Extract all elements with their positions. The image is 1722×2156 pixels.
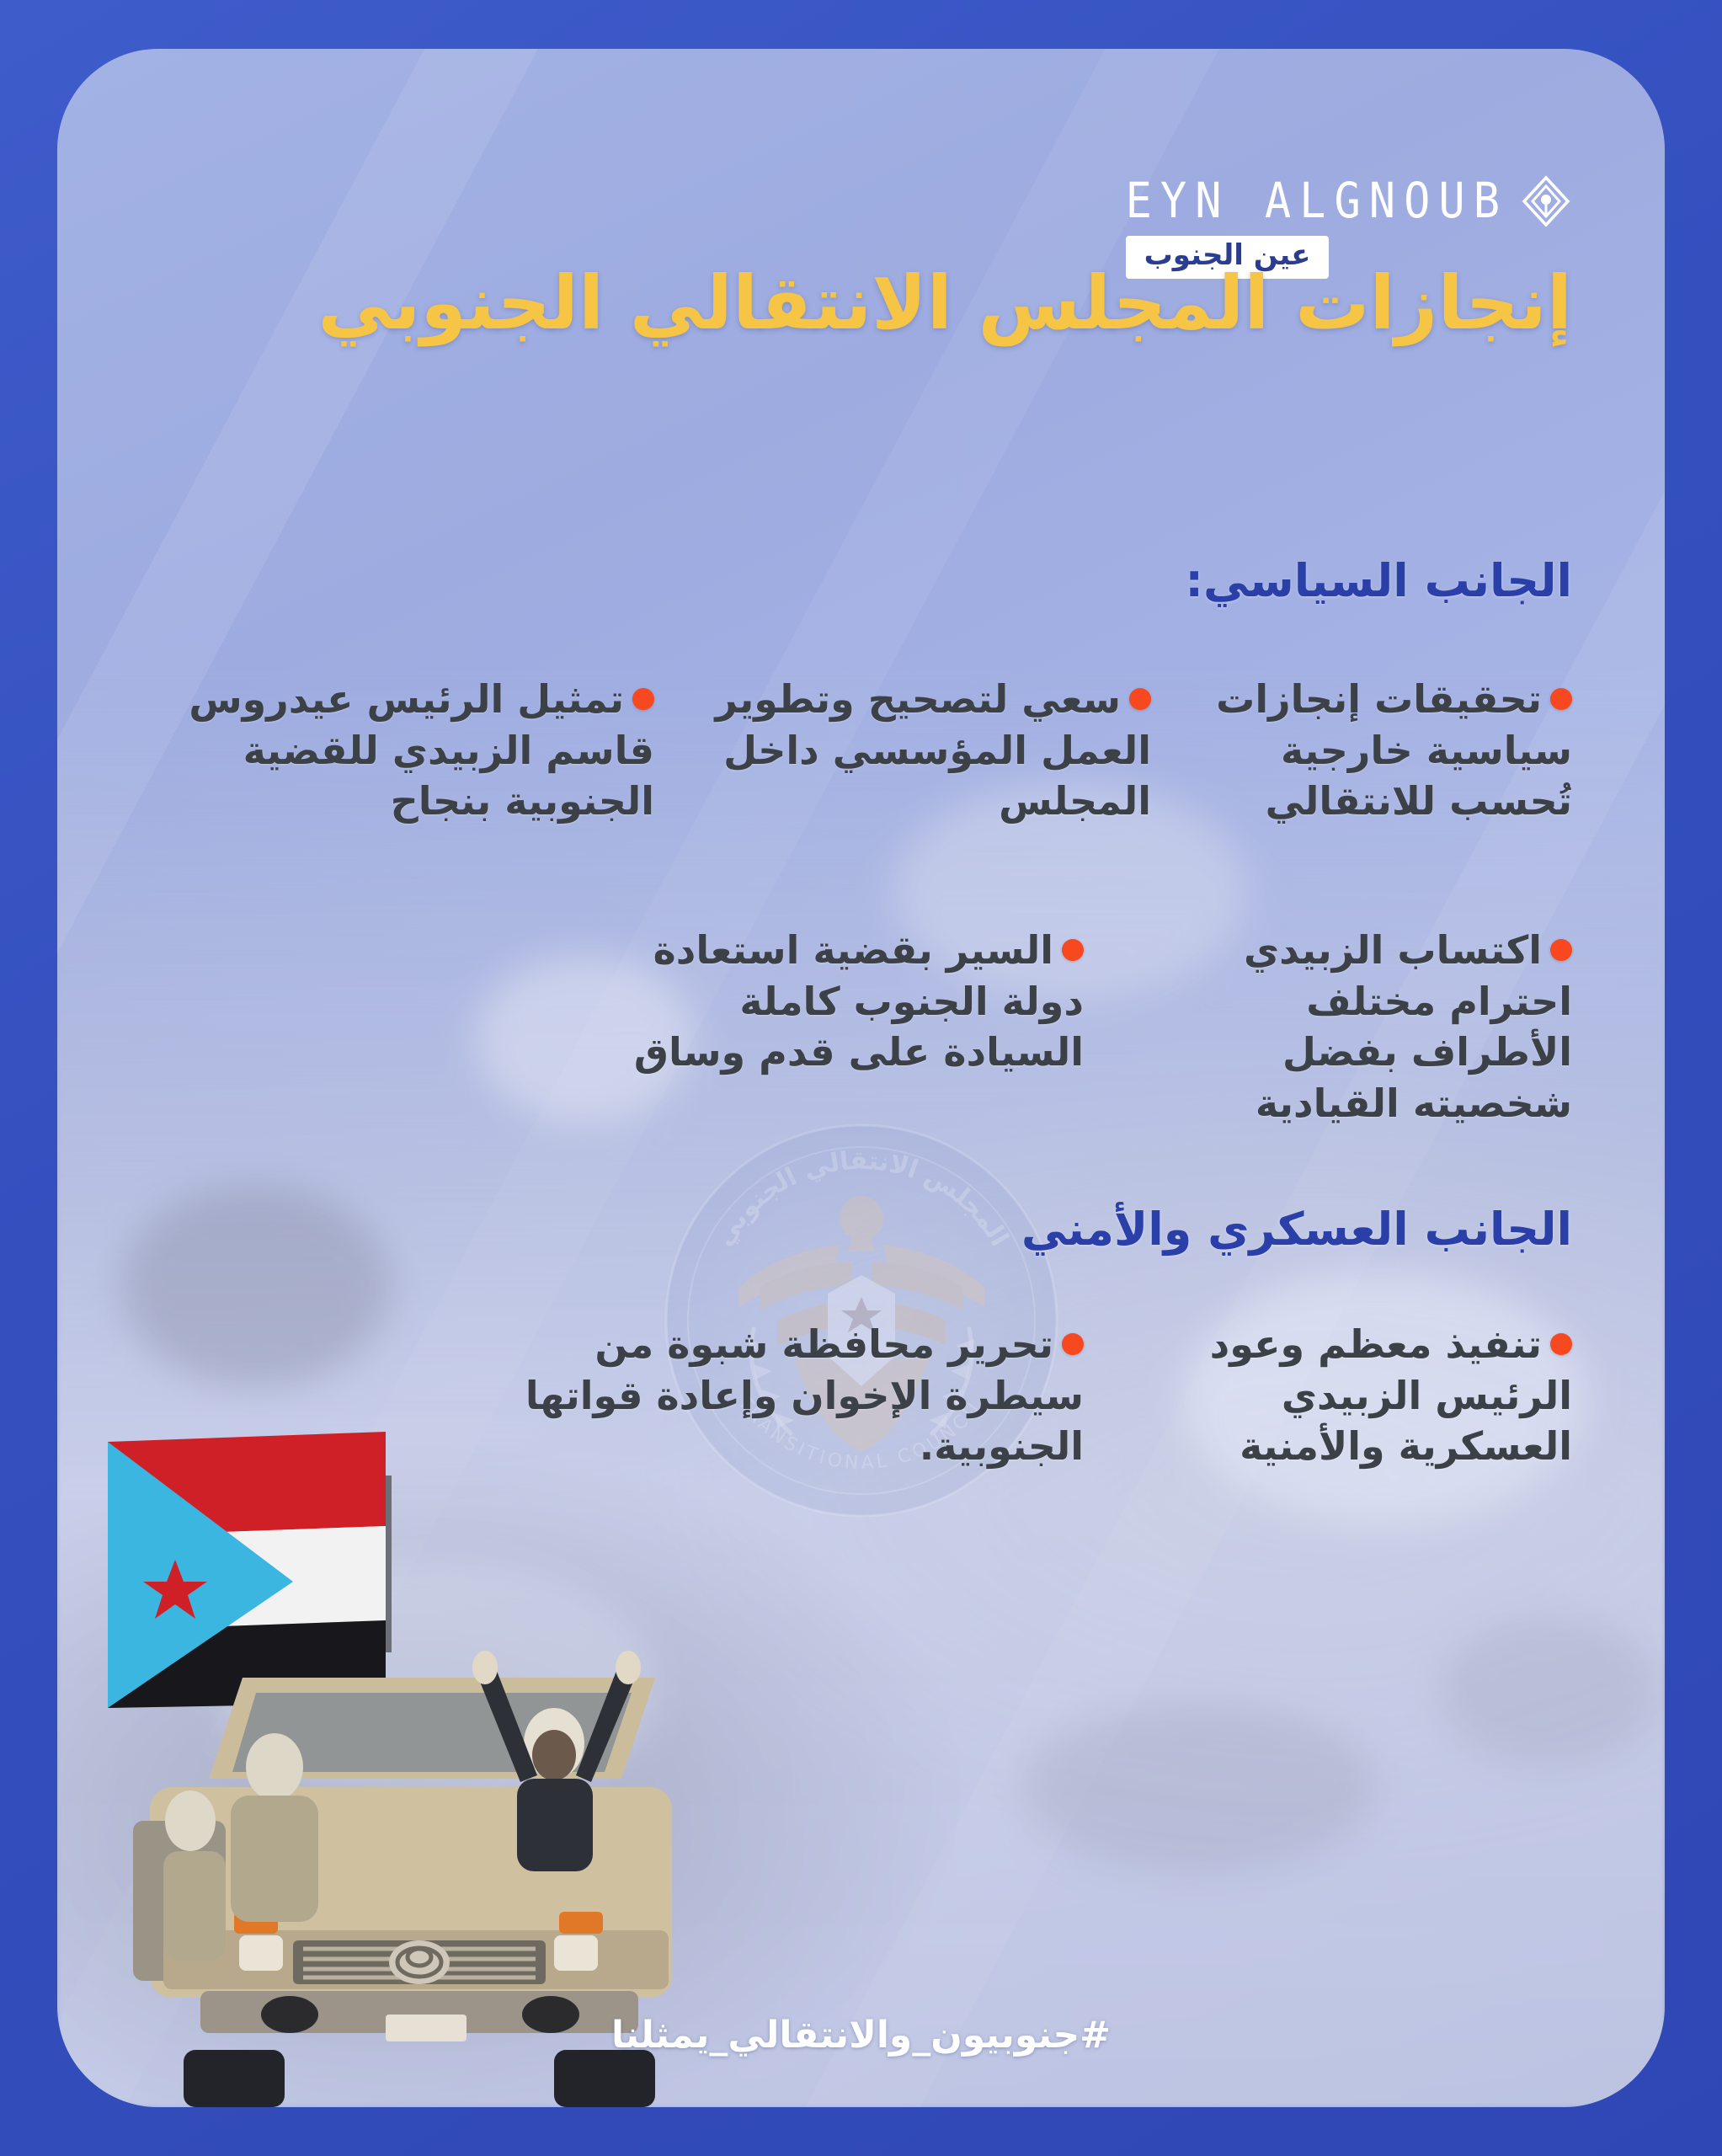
bullet-dot-icon <box>1550 688 1572 710</box>
bullet-political-1: تحقيقات إنجازات سياسية خارجية تُحسب للان… <box>1176 674 1572 827</box>
south-yemen-flag-icon <box>108 1432 386 1708</box>
bullet-text: السير بقضية استعادة دولة الجنوب كاملة ال… <box>634 927 1084 1075</box>
vehicle-photo <box>83 1425 748 2107</box>
bullet-dot-icon <box>1062 939 1084 961</box>
bullet-text: تنفيذ معظم وعود الرئيس الزبيدي العسكرية … <box>1210 1321 1572 1469</box>
hashtag[interactable]: #جنوبيون_والانتقالي_يمثلنا <box>57 2014 1665 2057</box>
section-heading-military: الجانب العسكري والأمني <box>1021 1203 1572 1256</box>
bullet-text: تمثيل الرئيس عيدروس قاسم الزبيدي للقضية … <box>189 676 654 824</box>
brand-wordmark: EYN ALGNOUB <box>1126 175 1572 227</box>
bullet-text: سعي لتصحيح وتطوير العمل المؤسسي داخل الم… <box>715 676 1151 824</box>
bullet-text: تحقيقات إنجازات سياسية خارجية تُحسب للان… <box>1216 676 1572 824</box>
poster-panel: المجلس الانتقالي الجنوبي TRANSITIONAL CO… <box>57 49 1665 2107</box>
bullet-military-1: تنفيذ معظم وعود الرئيس الزبيدي العسكرية … <box>1117 1319 1572 1472</box>
bullet-political-2: سعي لتصحيح وتطوير العمل المؤسسي داخل الم… <box>680 674 1151 827</box>
bullet-dot-icon <box>632 688 654 710</box>
diamond-pen-nib-icon <box>1520 175 1572 227</box>
section-heading-political: الجانب السياسي: <box>1185 554 1572 607</box>
page-title: إنجازات المجلس الانتقالي الجنوبي <box>150 259 1572 347</box>
bullet-political-4: اكتساب الزبيدي احترام مختلف الأطراف بفضل… <box>1134 925 1572 1129</box>
bullet-dot-icon <box>1550 939 1572 961</box>
bullet-political-3: تمثيل الرئيس عيدروس قاسم الزبيدي للقضية … <box>132 674 654 827</box>
bullet-dot-icon <box>1129 688 1151 710</box>
brand-wordmark-latin: EYN ALGNOUB <box>1126 173 1508 229</box>
bullet-dot-icon <box>1550 1333 1572 1355</box>
bullet-dot-icon <box>1062 1333 1084 1355</box>
bullet-text: اكتساب الزبيدي احترام مختلف الأطراف بفضل… <box>1244 927 1572 1126</box>
bullet-political-5: السير بقضية استعادة دولة الجنوب كاملة ال… <box>587 925 1084 1078</box>
poster-frame: المجلس الانتقالي الجنوبي TRANSITIONAL CO… <box>0 0 1722 2156</box>
